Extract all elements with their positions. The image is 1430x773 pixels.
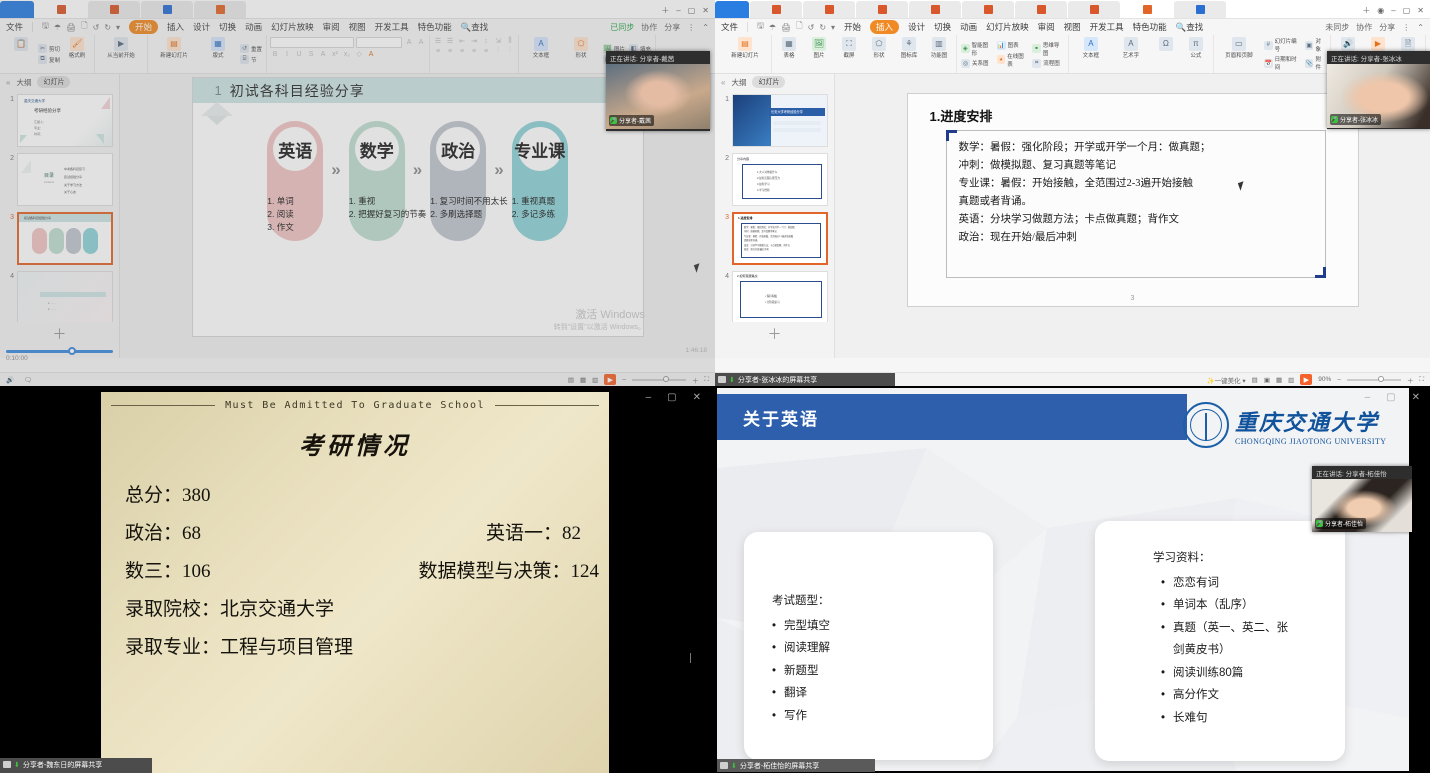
subject-column-math: 数学 1. 重视 2. 把握好复习的节奏: [343, 121, 411, 241]
watermark-line1: 激活 Windows: [575, 309, 645, 321]
close-icon-bl[interactable]: ✕: [693, 392, 701, 403]
thumbnail-preview[interactable]: 分享内容 1.大人对你说什么2.如何克服心理压力3.如何学习4.学习经验: [732, 153, 828, 206]
view-reading-icon-tl[interactable]: ▥: [592, 376, 598, 384]
customize-icon-tr[interactable]: ▾: [831, 23, 835, 32]
thumbnail-caption: 2.如何克服焦虑: [737, 274, 758, 278]
minimize-icon-br[interactable]: –: [1365, 392, 1371, 403]
collaborate-button-tr[interactable]: 协作: [1356, 22, 1372, 33]
decrease-indent-icon[interactable]: ⇤: [457, 37, 467, 45]
playback-scrubber-tl[interactable]: [6, 350, 113, 353]
video-feed-br[interactable]: 🎤 分享者-柘佳怡: [1312, 479, 1412, 532]
score-row: 录取专业：工程与项目管理: [125, 629, 609, 667]
slide-thumbnail-pane-tr[interactable]: « 大纲 幻灯片 1 长安大学考研经验分享: [715, 74, 835, 358]
align-left-icon[interactable]: ≡: [433, 48, 443, 55]
text-shadow-icon[interactable]: A: [318, 51, 328, 58]
quadrant-bottom-left: Must Be Admitted To Graduate School 考研情况…: [0, 386, 715, 773]
thumbnail-2-tl[interactable]: 2 目录 Contents 中考各科目复习复试经验分享关于学习方法关于心态: [2, 153, 113, 206]
icon-library-icon: ⚘: [902, 37, 916, 51]
table-icon: ▦: [782, 37, 796, 51]
menubar-tr[interactable]: 文件 🖫 ☂ 🖨 🗋 ↺ ↻ ▾ 开始 插入 设计 切换 动画 幻灯片放映 审阅: [715, 19, 1430, 35]
ribbon-group-objects-tr: ▦表格 🖼图片 ⛶截屏 ⬠形状 ⚘图标库 ▥功能图: [772, 35, 957, 73]
share-footer-text-br: 分享者-柘佳怡的屏幕共享: [740, 761, 819, 771]
subject-items-english: 1. 单词 2. 阅读 3. 作文: [267, 195, 327, 235]
slideshow-bottom-left[interactable]: Must Be Admitted To Graduate School 考研情况…: [101, 392, 609, 773]
add-tab-icon-tl[interactable]: ＋: [661, 5, 669, 16]
subscript-icon[interactable]: x₂: [342, 51, 352, 58]
play-slideshow-button-tr[interactable]: ▶: [1300, 374, 1312, 385]
zoom-slider-tr[interactable]: [1347, 379, 1401, 381]
participant-name-text: 分享者-戴茜: [619, 116, 651, 125]
menu-review-tl[interactable]: 审阅: [323, 21, 340, 33]
menu-animation-tr[interactable]: 动画: [960, 21, 977, 33]
align-top-icon[interactable]: ⫶: [493, 47, 503, 55]
smartart-icon: ◈: [961, 44, 970, 53]
card-right-heading: 学习资料：: [1153, 549, 1345, 565]
quadrant-top-right: ＋ ◉ – ▢ ✕ 文件 🖫 ☂ 🖨 🗋 ↺ ↻ ▾: [715, 0, 1430, 386]
document-icon: 🗎: [1401, 37, 1415, 51]
user-avatar-tr[interactable]: ◉: [1377, 6, 1384, 15]
zoom-in-icon-tr[interactable]: ＋: [1407, 375, 1414, 385]
redo-icon-tl[interactable]: ↻: [104, 23, 111, 32]
menu-search-tl[interactable]: 🔍查找: [461, 21, 489, 33]
share-button-tr[interactable]: 分享: [1379, 22, 1395, 33]
sync-status-tr[interactable]: 未同步: [1325, 22, 1349, 33]
increase-indent-icon[interactable]: ⇥: [469, 37, 479, 45]
symbol-button-tr[interactable]: Ω: [1153, 37, 1179, 52]
mindmap-button-tr[interactable]: ⚭思维导图: [1032, 41, 1064, 57]
doc-tab-tr-7[interactable]: [1068, 1, 1120, 18]
thumbnail-2-tr[interactable]: 2 分享内容 1.大人对你说什么2.如何克服心理压力3.如何学习4.学习经验: [717, 153, 828, 206]
fit-slide-icon-tl[interactable]: ⛶: [704, 376, 709, 384]
zoom-out-icon-tr[interactable]: –: [1337, 376, 1341, 383]
shape-icon: ⬠: [872, 37, 886, 51]
score-right: 数据模型与决策：124: [418, 553, 599, 591]
video-pip-tr[interactable]: 正在讲话: 分享者-张冰冰 🎤 分享者-张冰冰: [1327, 51, 1430, 129]
screenshot-button-tr[interactable]: ⛶截屏: [836, 37, 862, 60]
card-exam-types[interactable]: 考试题型： •完型填空 •阅读理解 •新题型 •翻译 •写作: [744, 532, 993, 760]
textbox-icon: A: [1084, 37, 1098, 51]
close-icon-tr[interactable]: ✕: [1417, 6, 1424, 15]
statusbar-right-tr[interactable]: ✨一键美化 ▾ ▤ ▣ ▦ ▥ ▶ 90% – ＋ ⛶: [1207, 374, 1425, 385]
tab-home-tl[interactable]: [0, 1, 34, 18]
window-controls-br[interactable]: – ▢ ✕: [1365, 392, 1420, 403]
more-icon-tl[interactable]: ⋮: [687, 23, 695, 32]
distribute-icon[interactable]: ≡: [481, 48, 491, 55]
flow-arrow-1-icon: »: [331, 160, 340, 202]
sync-status-tl[interactable]: 已同步: [610, 22, 634, 33]
play-slideshow-button-tl[interactable]: ▶: [604, 374, 616, 385]
chart-button-tr[interactable]: 📊图表: [997, 41, 1029, 50]
add-tab-icon-tr[interactable]: ＋: [1362, 5, 1370, 16]
scrubber-knob[interactable]: [68, 347, 76, 355]
increase-font-icon[interactable]: A: [404, 39, 414, 46]
document-tabbar-tl[interactable]: ＋ – ▢ ✕: [0, 0, 715, 19]
line-spacing-icon[interactable]: ↕: [481, 38, 491, 45]
ribbon-group-play-tl: ▶从当前开始: [95, 35, 148, 73]
slide-header-tl: 1 初试各科目经验分享: [193, 78, 643, 103]
redo-icon-tr[interactable]: ↻: [819, 23, 826, 32]
slide-header-en-bl: Must Be Admitted To Graduate School: [225, 400, 485, 411]
list-buttons-tl[interactable]: ☰ ☰ ⇤ ⇥ ↕ ⇲ ⫼: [433, 37, 515, 45]
function-chart-button-tr[interactable]: ▥功能图: [926, 37, 952, 60]
doc-tab-tr-8[interactable]: [1121, 1, 1173, 18]
thumbnail-number: 1: [717, 94, 729, 147]
maximize-icon-tr[interactable]: ▢: [1403, 6, 1411, 15]
strikethrough-icon[interactable]: S: [306, 51, 316, 58]
collapse-pane-icon-tl[interactable]: «: [6, 78, 10, 87]
thumbnail-caption: 分享内容: [737, 157, 749, 161]
slide-title-bl: 考研情况: [101, 426, 609, 461]
subject-name-english: 英语: [261, 137, 329, 162]
ribbon-tr[interactable]: ▤新建幻灯片 ▦表格 🖼图片 ⛶截屏 ⬠形状 ⚘图标库 ▥功能图 ◈智能图形 ◎…: [715, 35, 1430, 74]
justify-icon[interactable]: ≡: [469, 48, 479, 55]
section-button-tl[interactable]: ⌸节: [240, 55, 262, 64]
view-sorter-icon-tr[interactable]: ▦: [1276, 376, 1282, 384]
print-icon-tr[interactable]: 🖨: [781, 23, 791, 32]
subject-item: 1. 单词: [267, 195, 327, 208]
align-right-icon[interactable]: ≡: [457, 48, 467, 55]
quadrant-top-left: ＋ – ▢ ✕ 文件 🖫 ☂ 🖨 🗋 ↺ ↻ ▾ 开始: [0, 0, 715, 386]
new-slide-button-tr[interactable]: ▤新建幻灯片: [723, 37, 767, 60]
zoom-knob[interactable]: [1378, 376, 1384, 382]
print-preview-icon-tr[interactable]: 🗋: [796, 20, 802, 34]
thumbnail-3-tl[interactable]: 3 初试各科目经验分享: [2, 212, 113, 265]
monitor-icon-tr: [718, 376, 726, 383]
decor-triangle-1: [201, 102, 233, 116]
doc-tab-tr-5[interactable]: [962, 1, 1014, 18]
undo-icon-tl[interactable]: ↺: [93, 23, 100, 32]
menu-animation-tl[interactable]: 动画: [245, 21, 262, 33]
collapse-ribbon-icon-tl[interactable]: ⌃: [702, 23, 709, 32]
menu-insert-tr[interactable]: 插入: [870, 20, 899, 34]
picture-button-tr[interactable]: 🖼图片: [806, 37, 832, 60]
decrease-font-icon[interactable]: A: [416, 39, 426, 46]
logo-cn-text: 重庆交通大学: [1235, 405, 1386, 437]
font-style-buttons-tl[interactable]: B I U S A x² x₂ ◇ A: [270, 50, 376, 58]
thumbnail-preview[interactable]: 初试各科目经验分享: [17, 212, 113, 265]
menu-features-tr[interactable]: 特色功能: [1133, 21, 1167, 33]
layout-button-tl[interactable]: ▦版式: [200, 37, 236, 60]
header-footer-button-tr[interactable]: ▭页眉和页脚: [1218, 37, 1260, 60]
tab-slides-tl[interactable]: 幻灯片: [37, 76, 70, 88]
subject-column-major: 专业课 1. 重视真题 2. 多记多练: [506, 121, 574, 241]
wps-window-top-right: ＋ ◉ – ▢ ✕ 文件 🖫 ☂ 🖨 🗋 ↺ ↻ ▾: [715, 0, 1430, 386]
close-icon-br[interactable]: ✕: [1412, 392, 1420, 403]
undo-icon-tr[interactable]: ↺: [808, 23, 815, 32]
wordart-button-tr[interactable]: A艺术字: [1113, 37, 1149, 60]
align-middle-icon[interactable]: ⫶: [505, 47, 515, 55]
card-right-item: •恋恋有词: [1161, 572, 1345, 594]
maximize-icon-bl[interactable]: ▢: [667, 392, 676, 403]
speaking-label-tr: 正在讲话: 分享者-张冰冰: [1327, 51, 1430, 64]
cloud-save-icon-tr[interactable]: ☂: [769, 23, 776, 32]
slide-content-box-tr[interactable]: 数学：暑假：强化阶段；开学或开学一个月：做真题； 冲刺：做模拟题、复习真题等笔记…: [946, 130, 1326, 278]
thumbnail-preview[interactable]: 1. ……2. ……: [17, 271, 113, 322]
view-sorter-icon-tl[interactable]: ▦: [580, 376, 586, 384]
score-left: 录取院校：北京交通大学: [125, 591, 334, 629]
thumbnail-preview[interactable]: 长安大学考研经验分享: [732, 94, 828, 147]
menu-features-tl[interactable]: 特色功能: [418, 21, 452, 33]
layout-icon: ▦: [211, 37, 225, 51]
maximize-icon-br[interactable]: ▢: [1386, 392, 1395, 403]
watermark-line2: 转到"设置"以激活 Windows。: [554, 323, 645, 332]
align-buttons-tl[interactable]: ≡ ≡ ≡ ≡ ≡ ⫶ ⫶: [433, 47, 515, 55]
bullet-list-icon[interactable]: ☰: [433, 37, 443, 45]
menu-view-tl[interactable]: 视图: [349, 21, 366, 33]
statusbar-right-tl[interactable]: ▤ ▦ ▥ ▶ – ＋ ⛶: [568, 374, 709, 385]
thumbnail-preview[interactable]: 2.如何克服焦虑 • 保持积极• 分阶段复习: [732, 271, 828, 322]
participant-name-text: 分享者-张冰冰: [1340, 115, 1378, 124]
print-preview-icon-tl[interactable]: 🗋: [81, 20, 87, 34]
session-clock-tl: 1:46:18: [685, 347, 707, 354]
quick-access-toolbar-tr[interactable]: 🖫 ☂ 🖨 🗋 ↺ ↻ ▾: [757, 20, 835, 34]
share-footer-text-tl: 分享者-魏东日的屏幕共享: [23, 760, 102, 770]
clear-format-icon[interactable]: ◇: [354, 50, 364, 58]
slide-line: 英语：分块学习做题方法；卡点做真题；背作文: [959, 211, 1313, 229]
relation-chart-button-tr[interactable]: ◎关系图: [961, 59, 993, 68]
card-right-item: •长难句: [1161, 707, 1345, 729]
view-notes-icon-tr[interactable]: ▤: [1252, 376, 1258, 384]
zoom-slider-tl[interactable]: [632, 379, 686, 381]
slide-title-band-br: 关于英语: [717, 394, 1187, 440]
italic-icon[interactable]: I: [282, 51, 292, 58]
window-controls-bl[interactable]: – ▢ ✕: [646, 392, 701, 403]
thumbnail-preview[interactable]: 目录 Contents 中考各科目复习复试经验分享关于学习方法关于心态: [17, 153, 113, 206]
bold-icon[interactable]: B: [270, 51, 280, 58]
tab-outline-tl[interactable]: 大纲: [16, 77, 31, 88]
video-pip-br[interactable]: 正在讲话: 分享者-柘佳怡 🎤 分享者-柘佳怡: [1312, 466, 1412, 532]
save-icon-tr[interactable]: 🖫: [757, 20, 764, 34]
doc-tab-tr-9[interactable]: [1174, 1, 1226, 18]
share-footer-tr: ⬇ 分享者-张冰冰的屏幕共享: [715, 373, 895, 386]
ribbon-group-clipboard-tl: 📋 ✂剪切 ⧉复制 🖌格式刷: [4, 35, 95, 73]
subject-name-politics: 政治: [424, 137, 492, 162]
close-icon-tl[interactable]: ✕: [702, 6, 709, 15]
zoom-in-icon-tl[interactable]: ＋: [692, 375, 699, 385]
format-painter-tl[interactable]: 🖌格式刷: [64, 37, 90, 60]
formula-button-tr[interactable]: π公式: [1183, 37, 1209, 60]
flowchart-button-tr[interactable]: ⌗流程图: [1032, 59, 1064, 68]
minimize-icon-tl[interactable]: –: [676, 6, 680, 15]
table-button-tr[interactable]: ▦表格: [776, 37, 802, 60]
statusbar-tl[interactable]: 🔊 🗨 ▤ ▦ ▥ ▶ – ＋ ⛶: [0, 372, 715, 386]
monitor-icon-br: [720, 762, 728, 769]
tab-outline-tr[interactable]: 大纲: [731, 77, 746, 88]
thumbnail-preview[interactable]: 重庆交通大学 考研经验分享 汇报人：专业：时间：: [17, 94, 113, 147]
menu-search-tr[interactable]: 🔍查找: [1176, 21, 1204, 33]
datetime-button-tr[interactable]: 📅日期和时间: [1264, 55, 1301, 71]
share-button-tl[interactable]: 分享: [664, 22, 680, 33]
doc-tab-tr-6[interactable]: [1015, 1, 1067, 18]
new-slide-button-tl[interactable]: ▤新建幻灯片: [152, 37, 196, 60]
menu-design-tl[interactable]: 设计: [193, 21, 210, 33]
slide-header-bl: Must Be Admitted To Graduate School: [101, 392, 609, 418]
thumbnail-1-tl[interactable]: 1 重庆交通大学 考研经验分享 汇报人：专业：时间：: [2, 94, 113, 147]
add-slide-button-tr[interactable]: ＋: [715, 324, 834, 344]
speaker-icon-tl[interactable]: 🔊: [6, 376, 14, 384]
header-rule-right: [495, 405, 599, 406]
thumbnail-number: 2: [717, 153, 729, 206]
cut-button-tl[interactable]: ✂剪切: [38, 44, 60, 53]
quick-access-toolbar-tl[interactable]: 🖫 ☂ 🖨 🗋 ↺ ↻ ▾: [42, 20, 120, 34]
menu-slideshow-tl[interactable]: 幻灯片放映: [271, 21, 314, 33]
fit-slide-icon-tr[interactable]: ⛶: [1419, 376, 1424, 384]
shape-button-tr[interactable]: ⬠形状: [866, 37, 892, 60]
calendar-icon: 📅: [1264, 59, 1273, 68]
slide-line: 政治：现在开始/最后冲刺: [959, 229, 1313, 247]
thumbnail-caption: 长安大学考研经验分享: [769, 108, 825, 116]
document-tabbar-tr[interactable]: ＋ ◉ – ▢ ✕: [715, 0, 1430, 19]
superscript-icon[interactable]: x²: [330, 51, 340, 58]
menu-devtools-tr[interactable]: 开发工具: [1090, 21, 1124, 33]
selection-corner-br-icon: [1315, 267, 1326, 278]
copy-button-tl[interactable]: ⧉复制: [38, 55, 60, 64]
menu-transition-tr[interactable]: 切换: [934, 21, 951, 33]
tab-home-tr[interactable]: [715, 1, 749, 18]
textbox-button-tl[interactable]: A文本框: [523, 37, 559, 60]
comment-icon-tl[interactable]: 🗨: [24, 376, 32, 384]
collapse-ribbon-icon-tr[interactable]: ⌃: [1417, 23, 1424, 32]
font-size-select-tl[interactable]: [356, 37, 402, 48]
save-icon-tl[interactable]: 🖫: [42, 20, 49, 34]
add-slide-button-tl[interactable]: ＋: [0, 324, 119, 344]
customize-icon-tl[interactable]: ▾: [116, 23, 120, 32]
object-icon: ▣: [1305, 41, 1314, 50]
collapse-pane-icon-tr[interactable]: «: [721, 78, 725, 87]
online-chart-button-tr[interactable]: ◕在线图表: [997, 52, 1029, 68]
pane-tabs-tl[interactable]: « 大纲 幻灯片: [0, 74, 119, 90]
maximize-icon-tl[interactable]: ▢: [688, 6, 696, 15]
columns-icon[interactable]: ⫼: [505, 37, 515, 45]
print-icon-tl[interactable]: 🖨: [66, 23, 76, 32]
thumbnail-number: 4: [717, 271, 729, 322]
selection-corner-tl-icon: [946, 130, 957, 141]
menu-start-tr[interactable]: 开始: [844, 21, 861, 33]
icon-library-button-tr[interactable]: ⚘图标库: [896, 37, 922, 60]
thumbnail-number: 1: [2, 94, 14, 147]
align-center-icon[interactable]: ≡: [445, 48, 455, 55]
smartart-button-tr[interactable]: ◈智能图形: [961, 41, 993, 57]
beautify-button-tr[interactable]: ✨一键美化 ▾: [1207, 375, 1246, 385]
reset-button-tl[interactable]: ↺重置: [240, 44, 262, 53]
slideshow-bottom-right[interactable]: 关于英语 重庆交通大学 CHONGQING JIAOTONG UNIVERSIT…: [717, 388, 1409, 771]
zoom-level-tr[interactable]: 90%: [1318, 376, 1331, 383]
doc-tab-tl-4[interactable]: [194, 1, 246, 18]
thumbnail-number: 3: [717, 212, 729, 265]
doc-tab-tr-4[interactable]: [909, 1, 961, 18]
symbol-icon: Ω: [1159, 37, 1173, 51]
cloud-save-icon-tl[interactable]: ☂: [54, 23, 61, 32]
slide-title-br: 关于英语: [743, 405, 819, 430]
download-arrow-icon-br: ⬇: [731, 762, 737, 770]
card-study-materials[interactable]: 学习资料： •恋恋有词 •单词本（乱序） •真题（英一、英二、张 •剑黄皮书） …: [1095, 521, 1345, 761]
minimize-icon-bl[interactable]: –: [646, 392, 652, 403]
menu-design-tr[interactable]: 设计: [908, 21, 925, 33]
view-reading-icon-tr[interactable]: ▥: [1288, 376, 1294, 384]
windows-activation-watermark-tl: 激活 Windows 转到"设置"以激活 Windows。: [554, 308, 645, 332]
menu-transition-tl[interactable]: 切换: [219, 21, 236, 33]
thumbnail-3-tr[interactable]: 3 1.进度安排 数学：暑假：强化阶段；开学或开学一个月：做真题；冲刺：做模拟题…: [717, 212, 828, 265]
start-from-current-tl[interactable]: ▶从当前开始: [99, 37, 143, 60]
scissors-icon: ✂: [38, 44, 47, 53]
video-feed-tl[interactable]: 🎤 分享者-戴茜: [606, 64, 710, 129]
attachment-button-tr[interactable]: 📎附件: [1305, 55, 1326, 71]
pane-tabs-tr[interactable]: « 大纲 幻灯片: [715, 74, 834, 90]
menu-view-tr[interactable]: 视图: [1064, 21, 1081, 33]
video-icon: ▶: [1371, 37, 1385, 51]
highlight-icon[interactable]: A: [366, 51, 376, 58]
thumbnail-list-tr[interactable]: 1 长安大学考研经验分享 2 分享内容: [715, 92, 834, 322]
underline-icon[interactable]: U: [294, 51, 304, 58]
menu-insert-tl[interactable]: 插入: [167, 21, 184, 33]
tab-slides-tr[interactable]: 幻灯片: [752, 76, 785, 88]
object-button-tr[interactable]: ▣对象: [1305, 37, 1326, 53]
card-left-item: •翻译: [772, 682, 993, 704]
slide-number-button-tr[interactable]: #幻灯片编号: [1264, 37, 1301, 53]
number-list-icon[interactable]: ☰: [445, 37, 455, 45]
mouse-cursor-tr: [1239, 182, 1247, 193]
doc-tab-tl-3[interactable]: [141, 1, 193, 18]
doc-tab-tr-2[interactable]: [803, 1, 855, 18]
ribbon-group-paragraph-tl: ☰ ☰ ⇤ ⇥ ↕ ⇲ ⫼ ≡ ≡ ≡ ≡ ≡ ⫶: [430, 35, 519, 73]
doc-tab-tr-3[interactable]: [856, 1, 908, 18]
score-rows-bl: 总分：380 政治：68 英语一：82 数三：106 数据模型与决策：124 录…: [101, 461, 609, 667]
text-direction-icon[interactable]: ⇲: [493, 37, 503, 45]
paperclip-icon: 📎: [1305, 59, 1314, 68]
thumbnail-preview[interactable]: 1.进度安排 数学：暑假：强化阶段；开学或开学一个月：做真题；冲刺：做模拟题、复…: [732, 212, 828, 265]
thumbnail-4-tl[interactable]: 4 1. ……2. ……: [2, 271, 113, 322]
thumbnail-caption: 1.进度安排: [738, 216, 753, 220]
collaborate-button-tl[interactable]: 协作: [641, 22, 657, 33]
video-feed-tr[interactable]: 🎤 分享者-张冰冰: [1327, 64, 1430, 128]
shape-button-tl[interactable]: ⬠形状: [563, 37, 599, 60]
doc-tab-tr-1[interactable]: [750, 1, 802, 18]
video-pip-tl[interactable]: 正在讲话: 分享者-戴茜 🎤 分享者-戴茜: [606, 51, 710, 131]
slide-page-number-tr: 3: [908, 295, 1358, 302]
download-arrow-icon-tr: ⬇: [729, 376, 735, 384]
audio-icon: 🔊: [1341, 37, 1355, 51]
font-family-select-tl[interactable]: [270, 37, 354, 48]
font-selectors-tl[interactable]: A A: [270, 37, 426, 48]
menu-file-tl[interactable]: 文件: [6, 21, 23, 33]
slide-top-right[interactable]: 1.进度安排 数学：暑假：强化阶段；开学或开学一个月：做真题； 冲刺：做模拟题、…: [908, 94, 1358, 306]
view-normal-icon-tl[interactable]: ▤: [568, 376, 574, 384]
zoom-out-icon-tl[interactable]: –: [622, 376, 626, 383]
slide-thumbnail-pane-tl[interactable]: « 大纲 幻灯片 1 重庆交通大学 考研经验分享 汇报人：专业：时间：: [0, 74, 120, 358]
menu-slideshow-tr[interactable]: 幻灯片放映: [986, 21, 1029, 33]
thumbnail-pane-footer-tr: ＋: [715, 324, 834, 358]
menu-devtools-tl[interactable]: 开发工具: [375, 21, 409, 33]
menu-start-tl[interactable]: 开始: [129, 20, 158, 34]
menu-review-tr[interactable]: 审阅: [1038, 21, 1055, 33]
menu-file-tr[interactable]: 文件: [721, 21, 738, 33]
minimize-icon-tr[interactable]: –: [1391, 6, 1395, 15]
participant-name-tl: 🎤 分享者-戴茜: [609, 115, 654, 126]
paste-button-tl[interactable]: 📋: [8, 37, 34, 52]
zoom-knob[interactable]: [663, 376, 669, 382]
speaking-label-tl: 正在讲话: 分享者-戴茜: [606, 51, 710, 64]
menubar-tl[interactable]: 文件 🖫 ☂ 🖨 🗋 ↺ ↻ ▾ 开始 插入 设计 切换 动画 幻灯片放映 审阅: [0, 19, 715, 35]
thumbnail-list-tl[interactable]: 1 重庆交通大学 考研经验分享 汇报人：专业：时间： 2: [0, 92, 119, 322]
doc-tab-tl-1[interactable]: [35, 1, 87, 18]
view-normal-icon-tr[interactable]: ▣: [1264, 376, 1270, 384]
thumbnail-1-tr[interactable]: 1 长安大学考研经验分享: [717, 94, 828, 147]
more-icon-tr[interactable]: ⋮: [1402, 23, 1410, 32]
thumbnail-4-tr[interactable]: 4 2.如何克服焦虑 • 保持积极• 分阶段复习: [717, 271, 828, 322]
textbox-button-tr[interactable]: A文本框: [1073, 37, 1109, 60]
doc-tab-tl-2[interactable]: [88, 1, 140, 18]
slide-top-left[interactable]: 1 初试各科目经验分享 英语 1. 单词 2. 阅读: [193, 78, 643, 336]
